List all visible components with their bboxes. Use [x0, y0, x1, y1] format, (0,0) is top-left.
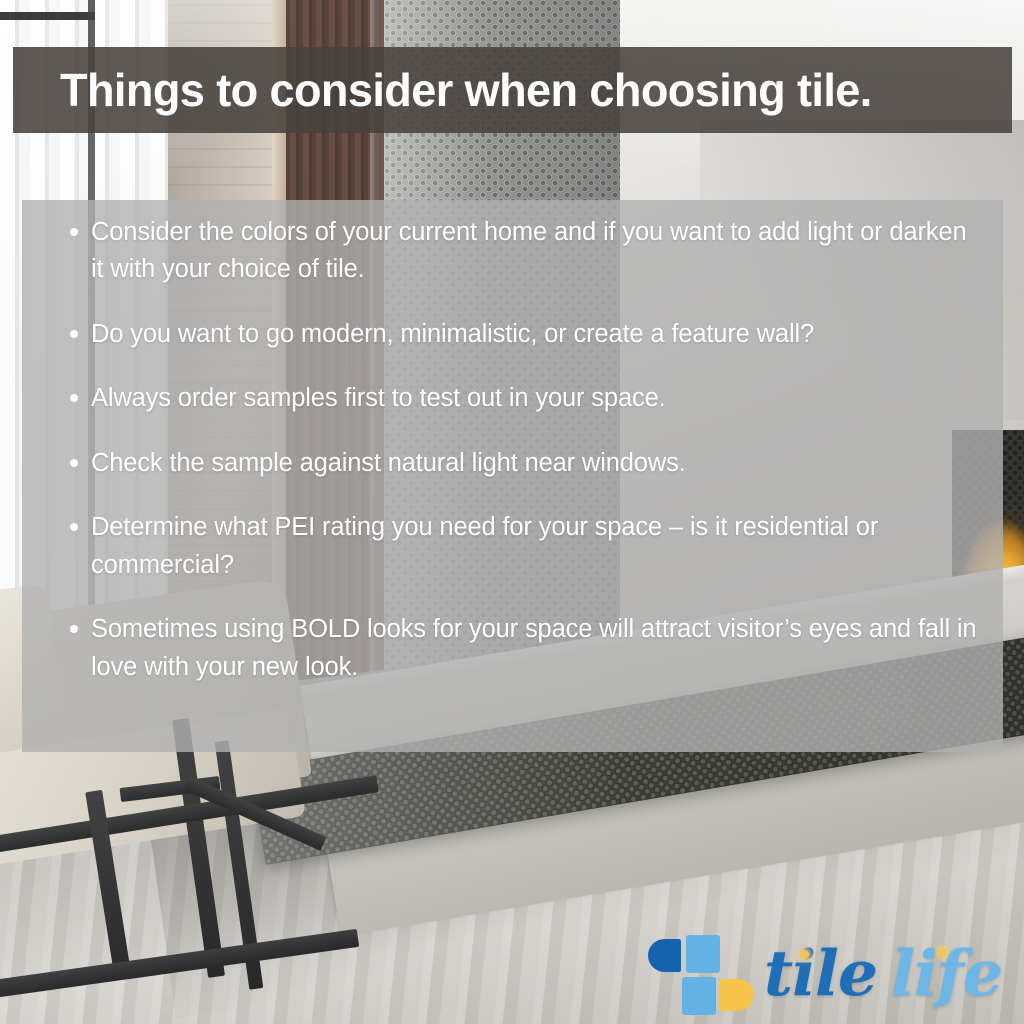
- tile-life-logo[interactable]: tilelife: [648, 930, 1008, 1016]
- list-item: Always order samples first to test out i…: [46, 380, 979, 417]
- list-item: Determine what PEI rating you need for y…: [46, 509, 979, 584]
- logo-word-life: life: [891, 936, 1002, 1010]
- logo-tile-light-blue-top: [686, 935, 720, 973]
- logo-tile-gold: [720, 979, 754, 1011]
- bullet-dot-icon: [70, 228, 78, 236]
- list-item-text: Sometimes using BOLD looks for your spac…: [91, 615, 976, 680]
- bullet-dot-icon: [70, 394, 78, 402]
- tips-list: Consider the colors of your current home…: [46, 214, 979, 686]
- logo-wordmark: tilelife: [764, 942, 1002, 1005]
- list-item-text: Consider the colors of your current home…: [91, 218, 966, 283]
- list-item: Do you want to go modern, minimalistic, …: [46, 316, 979, 353]
- window-header-bar: [0, 12, 95, 20]
- logo-tile-light-blue-bottom: [682, 977, 716, 1015]
- list-item: Sometimes using BOLD looks for your spac…: [46, 611, 979, 686]
- list-item-text: Do you want to go modern, minimalistic, …: [91, 320, 814, 348]
- list-item-text: Check the sample against natural light n…: [91, 449, 686, 477]
- bullet-dot-icon: [70, 330, 78, 338]
- page-title: Things to consider when choosing tile.: [13, 67, 872, 113]
- title-banner: Things to consider when choosing tile.: [13, 47, 1012, 133]
- list-item-text: Always order samples first to test out i…: [91, 384, 666, 412]
- logo-dot-i-life-icon: [938, 948, 947, 957]
- content-panel: Consider the colors of your current home…: [22, 200, 1003, 752]
- poster-canvas: Things to consider when choosing tile. C…: [0, 0, 1024, 1024]
- bullet-dot-icon: [70, 523, 78, 531]
- bullet-dot-icon: [70, 459, 78, 467]
- list-item: Consider the colors of your current home…: [46, 214, 979, 289]
- tile-grid-logo-mark-icon: [648, 935, 724, 1011]
- logo-tile-dark-blue: [648, 939, 681, 972]
- logo-word-tile: tile: [764, 936, 877, 1010]
- list-item: Check the sample against natural light n…: [46, 445, 979, 482]
- logo-dot-i-tile-icon: [800, 950, 809, 959]
- list-item-text: Determine what PEI rating you need for y…: [91, 513, 878, 578]
- bullet-dot-icon: [70, 625, 78, 633]
